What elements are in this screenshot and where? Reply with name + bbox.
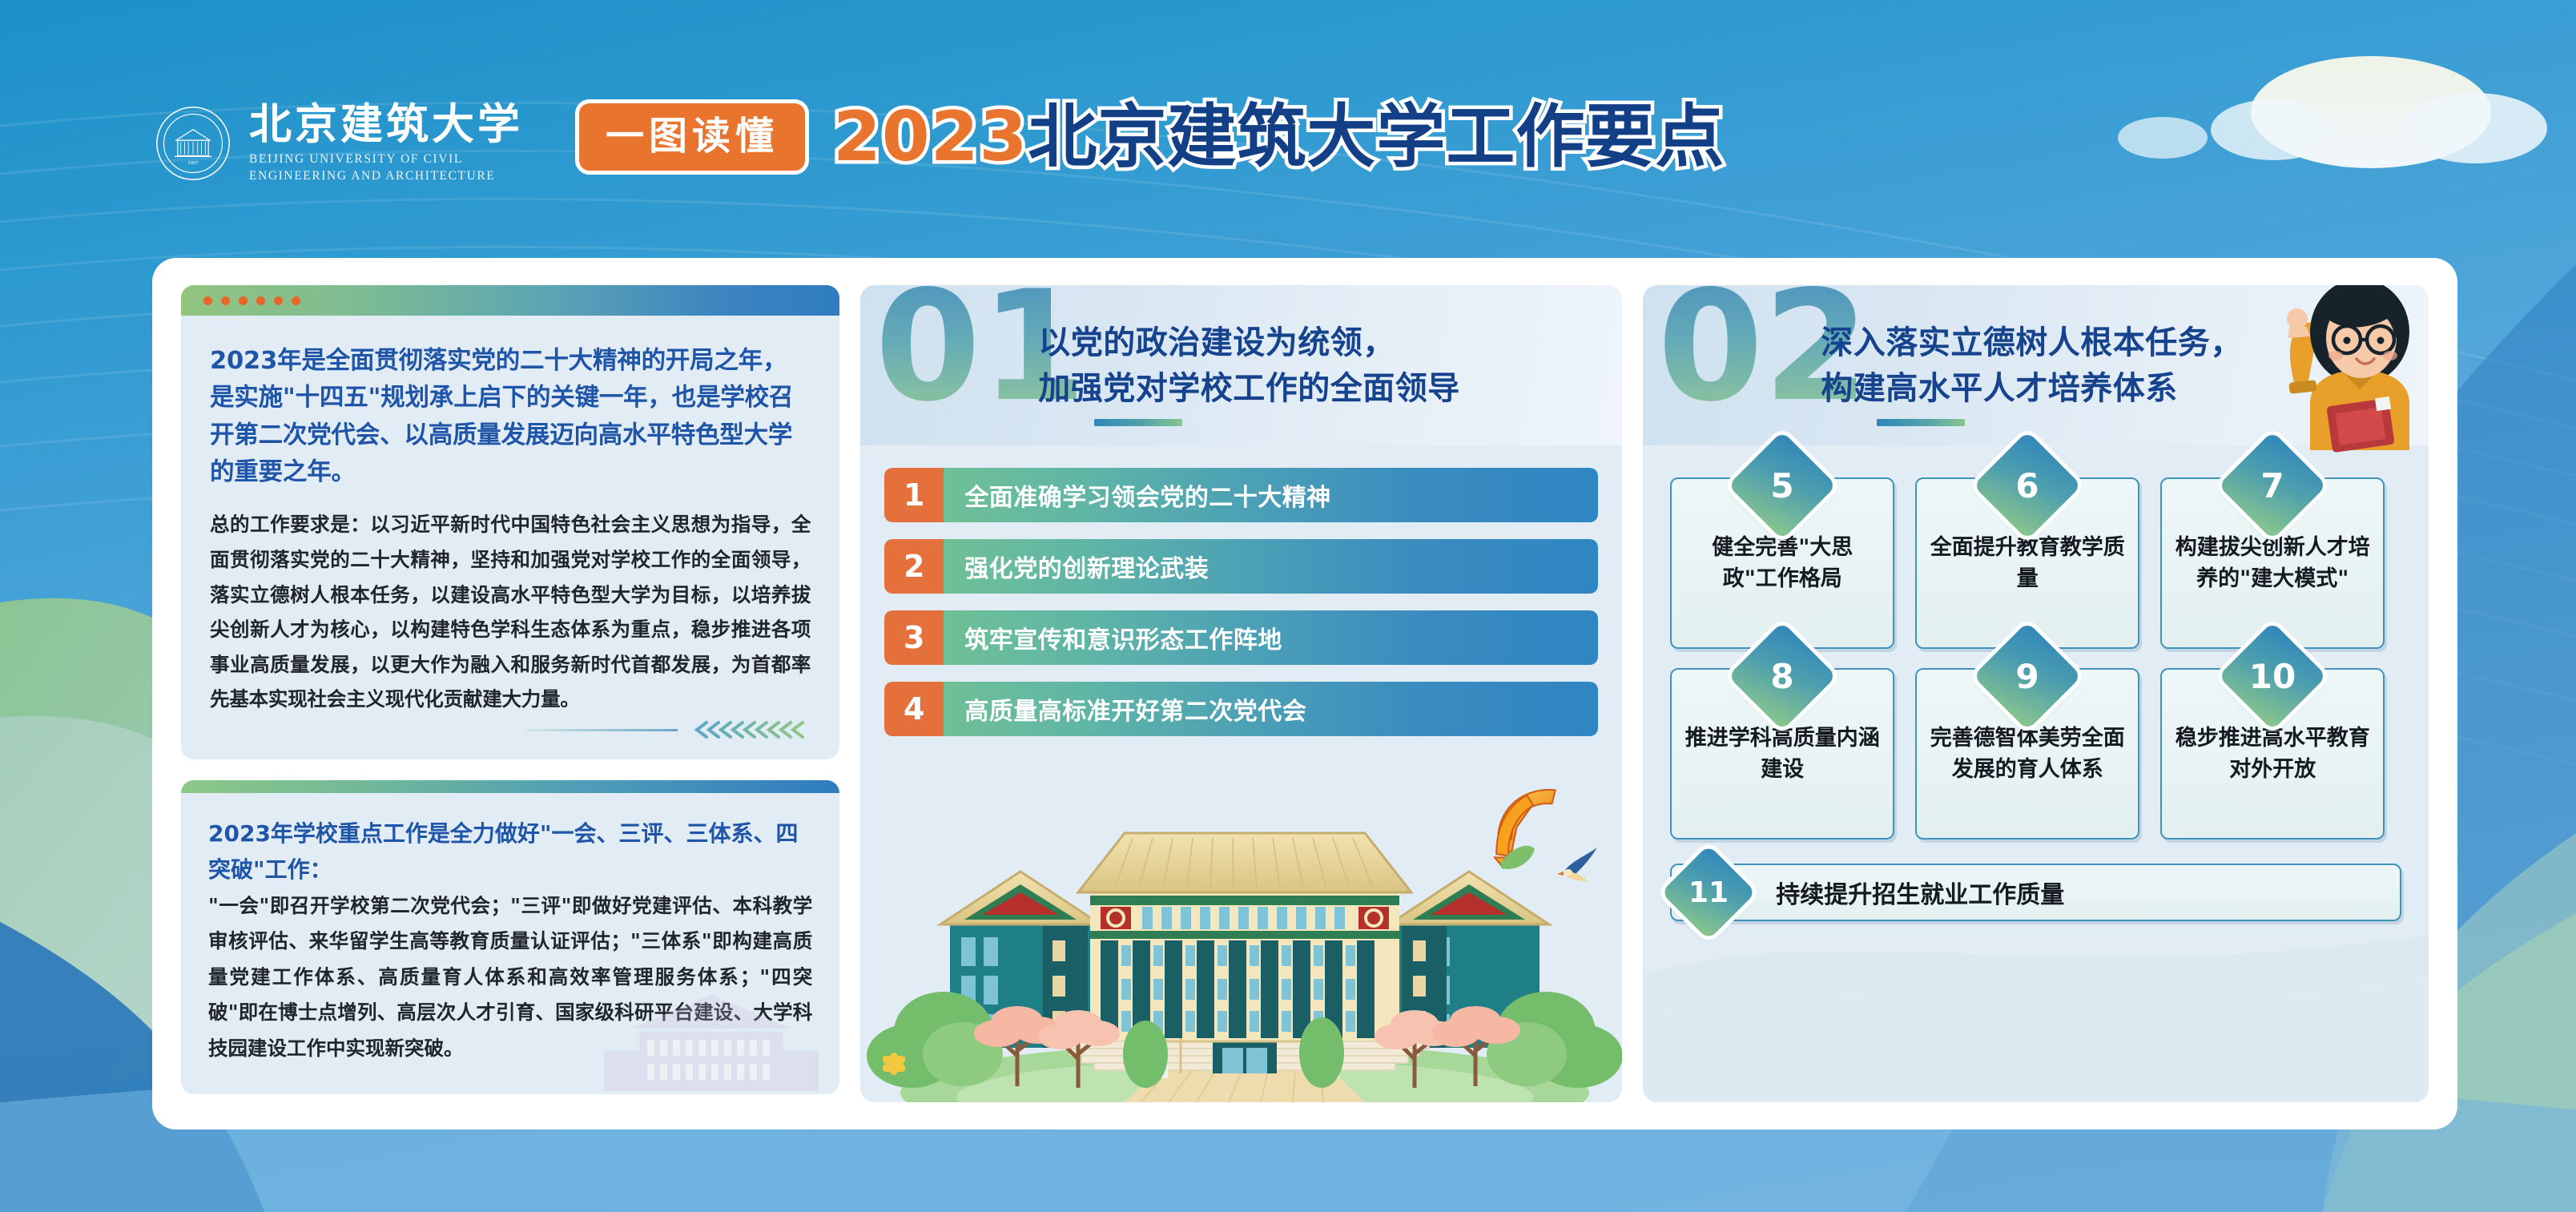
section-two-rule xyxy=(1877,419,1965,426)
tile-label: 完善德智体美劳全面发展的育人体系 xyxy=(1930,723,2125,786)
list-item[interactable]: 4 高质量高标准开好第二次党代会 xyxy=(884,682,1598,736)
dot-icon xyxy=(292,296,300,305)
tile-number: 5 xyxy=(1744,447,1821,524)
section-two-header: 02 深入落实立德树人根本任务， 构建高水平人才培养体系 xyxy=(1643,285,2429,445)
logo-english-line1: BEIJING UNIVERSITY OF CIVIL xyxy=(249,151,523,168)
tile-number: 6 xyxy=(1989,447,2066,524)
item-number: 2 xyxy=(884,539,944,594)
intro-card-header xyxy=(181,285,839,316)
tile-number: 9 xyxy=(1989,638,2066,715)
item-label: 高质量高标准开好第二次党代会 xyxy=(944,682,1598,736)
logo-english-line2: ENGINEERING AND ARCHITECTURE xyxy=(249,168,523,185)
key-work-card-body: 2023年学校重点工作是全力做好"一会、三评、三体系、四突破"工作： "一会"即… xyxy=(181,793,839,1094)
tile-number: 11 xyxy=(1675,859,1742,926)
section-two-last-item[interactable]: 11 持续提升招生就业工作质量 xyxy=(1670,864,2401,921)
grid-tile[interactable]: 8 推进学科高质量内涵建设 xyxy=(1670,668,1894,840)
card-footer-decoration xyxy=(525,718,812,742)
tile-label: 全面提升教育教学质量 xyxy=(1930,532,2125,595)
item-number: 3 xyxy=(884,610,944,665)
tile-number: 7 xyxy=(2234,447,2311,524)
grid-tile[interactable]: 6 全面提升教育教学质量 xyxy=(1915,477,2139,649)
student-illustration xyxy=(2240,285,2424,453)
tile-label: 推进学科高质量内涵建设 xyxy=(1684,723,1880,786)
tile-number: 10 xyxy=(2234,638,2311,715)
read-at-a-glance-badge: 一图读懂 xyxy=(575,99,809,175)
grid-tile[interactable]: 10 稳步推进高水平教育对外开放 xyxy=(2160,668,2385,840)
section-one-header: 01 以党的政治建设为统领， 加强党对学校工作的全面领导 xyxy=(860,285,1622,445)
section-one-item-list: 1 全面准确学习领会党的二十大精神 2 强化党的创新理论武装 3 筑牢宣传和意识… xyxy=(860,445,1622,736)
swallow-icon xyxy=(1557,848,1597,881)
intro-card: 2023年是全面贯彻落实党的二十大精神的开局之年，是实施"十四五"规划承上启下的… xyxy=(181,285,839,759)
diamond-badge: 11 xyxy=(1661,845,1757,940)
divider-line xyxy=(525,729,678,731)
diamond-badge: 9 xyxy=(1973,622,2082,731)
ghost-building-icon xyxy=(591,990,831,1094)
section-one-title: 以党的政治建设为统领， 加强党对学校工作的全面领导 xyxy=(1038,320,1460,412)
key-work-card: 2023年学校重点工作是全力做好"一会、三评、三体系、四突破"工作： "一会"即… xyxy=(181,780,839,1094)
logo-chinese-name: 北京建筑大学 xyxy=(249,103,523,147)
page-header: 1907 北京建筑大学 BEIJING UNIVERSITY OF CIVIL … xyxy=(0,0,2576,240)
grid-tile[interactable]: 9 完善德智体美劳全面发展的育人体系 xyxy=(1915,668,2139,840)
section-two-column: 02 深入落实立德树人根本任务， 构建高水平人才培养体系 xyxy=(1643,285,2429,1102)
tile-label: 健全完善"大思政"工作格局 xyxy=(1684,532,1880,595)
section-one: 01 以党的政治建设为统领， 加强党对学校工作的全面领导 1 全面准确学习领会党… xyxy=(860,285,1622,1102)
item-label: 筑牢宣传和意识形态工作阵地 xyxy=(944,610,1598,665)
tile-label: 构建拔尖创新人才培养的"建大模式" xyxy=(2175,532,2370,595)
crest-year-label: 1907 xyxy=(187,160,199,166)
section-one-title-line1: 以党的政治建设为统领， xyxy=(1038,320,1460,366)
university-crest-icon: 1907 xyxy=(155,105,231,182)
title-year: 2023 xyxy=(833,97,1028,177)
section-one-rule xyxy=(1094,419,1182,426)
tile-number: 8 xyxy=(1744,638,1821,715)
diamond-badge: 7 xyxy=(2218,431,2327,540)
list-item[interactable]: 1 全面准确学习领会党的二十大精神 xyxy=(884,468,1598,522)
dot-icon xyxy=(221,296,230,305)
list-item[interactable]: 3 筑牢宣传和意识形态工作阵地 xyxy=(884,610,1598,665)
section-two-title-line2: 构建高水平人才培养体系 xyxy=(1821,366,2243,412)
dot-icon xyxy=(256,296,265,305)
title-text: 北京建筑大学工作要点 xyxy=(1028,97,1725,177)
item-number: 1 xyxy=(884,468,944,522)
dot-icon xyxy=(203,296,212,305)
page-title: 2023北京建筑大学工作要点 xyxy=(833,103,1725,171)
main-panel: 2023年是全面贯彻落实党的二十大精神的开局之年，是实施"十四五"规划承上启下的… xyxy=(152,258,2457,1129)
section-two-title-line1: 深入落实立德树人根本任务， xyxy=(1821,320,2243,366)
list-item[interactable]: 2 强化党的创新理论武装 xyxy=(884,539,1598,594)
left-column: 2023年是全面贯彻落实党的二十大精神的开局之年，是实施"十四五"规划承上启下的… xyxy=(181,285,839,1102)
dot-icon xyxy=(239,296,248,305)
campus-building-illustration xyxy=(860,766,1622,1102)
title-row: 一图读懂 2023北京建筑大学工作要点 xyxy=(575,99,1725,175)
intro-card-body: 2023年是全面贯彻落实党的二十大精神的开局之年，是实施"十四五"规划承上启下的… xyxy=(181,316,839,759)
diamond-badge: 6 xyxy=(1973,431,2082,540)
section-two-tile-grid: 5 健全完善"大思政"工作格局 6 全面提升教育教学质量 7 构建拔尖创新人才培… xyxy=(1643,445,2429,840)
diamond-badge: 8 xyxy=(1728,622,1837,731)
chevron-left-group-icon xyxy=(692,718,812,742)
university-logo: 1907 北京建筑大学 BEIJING UNIVERSITY OF CIVIL … xyxy=(155,103,523,184)
item-number: 4 xyxy=(884,682,944,736)
item-label: 全面准确学习领会党的二十大精神 xyxy=(944,468,1598,522)
section-one-title-line2: 加强党对学校工作的全面领导 xyxy=(1038,366,1460,412)
tile-label: 持续提升招生就业工作质量 xyxy=(1776,875,2064,910)
diamond-badge: 10 xyxy=(2218,622,2327,731)
dot-icon xyxy=(274,296,283,305)
tile-label: 稳步推进高水平教育对外开放 xyxy=(2175,723,2370,786)
intro-lead-text: 2023年是全面贯彻落实党的二十大精神的开局之年，是实施"十四五"规划承上启下的… xyxy=(210,343,811,491)
key-work-card-header xyxy=(181,780,839,793)
section-one-column: 01 以党的政治建设为统领， 加强党对学校工作的全面领导 1 全面准确学习领会党… xyxy=(860,285,1622,1102)
grid-tile[interactable]: 7 构建拔尖创新人才培养的"建大模式" xyxy=(2160,477,2385,649)
section-two: 02 深入落实立德树人根本任务， 构建高水平人才培养体系 xyxy=(1643,285,2429,1102)
intro-paragraph: 总的工作要求是：以习近平新时代中国特色社会主义思想为指导，全面贯彻落实党的二十大… xyxy=(210,507,811,717)
key-work-lead-text: 2023年学校重点工作是全力做好"一会、三评、三体系、四突破"工作： xyxy=(208,815,812,888)
grid-tile[interactable]: 5 健全完善"大思政"工作格局 xyxy=(1670,477,1894,649)
section-two-title: 深入落实立德树人根本任务， 构建高水平人才培养体系 xyxy=(1821,320,2243,412)
item-label: 强化党的创新理论武装 xyxy=(944,539,1598,594)
diamond-badge: 5 xyxy=(1728,431,1837,540)
